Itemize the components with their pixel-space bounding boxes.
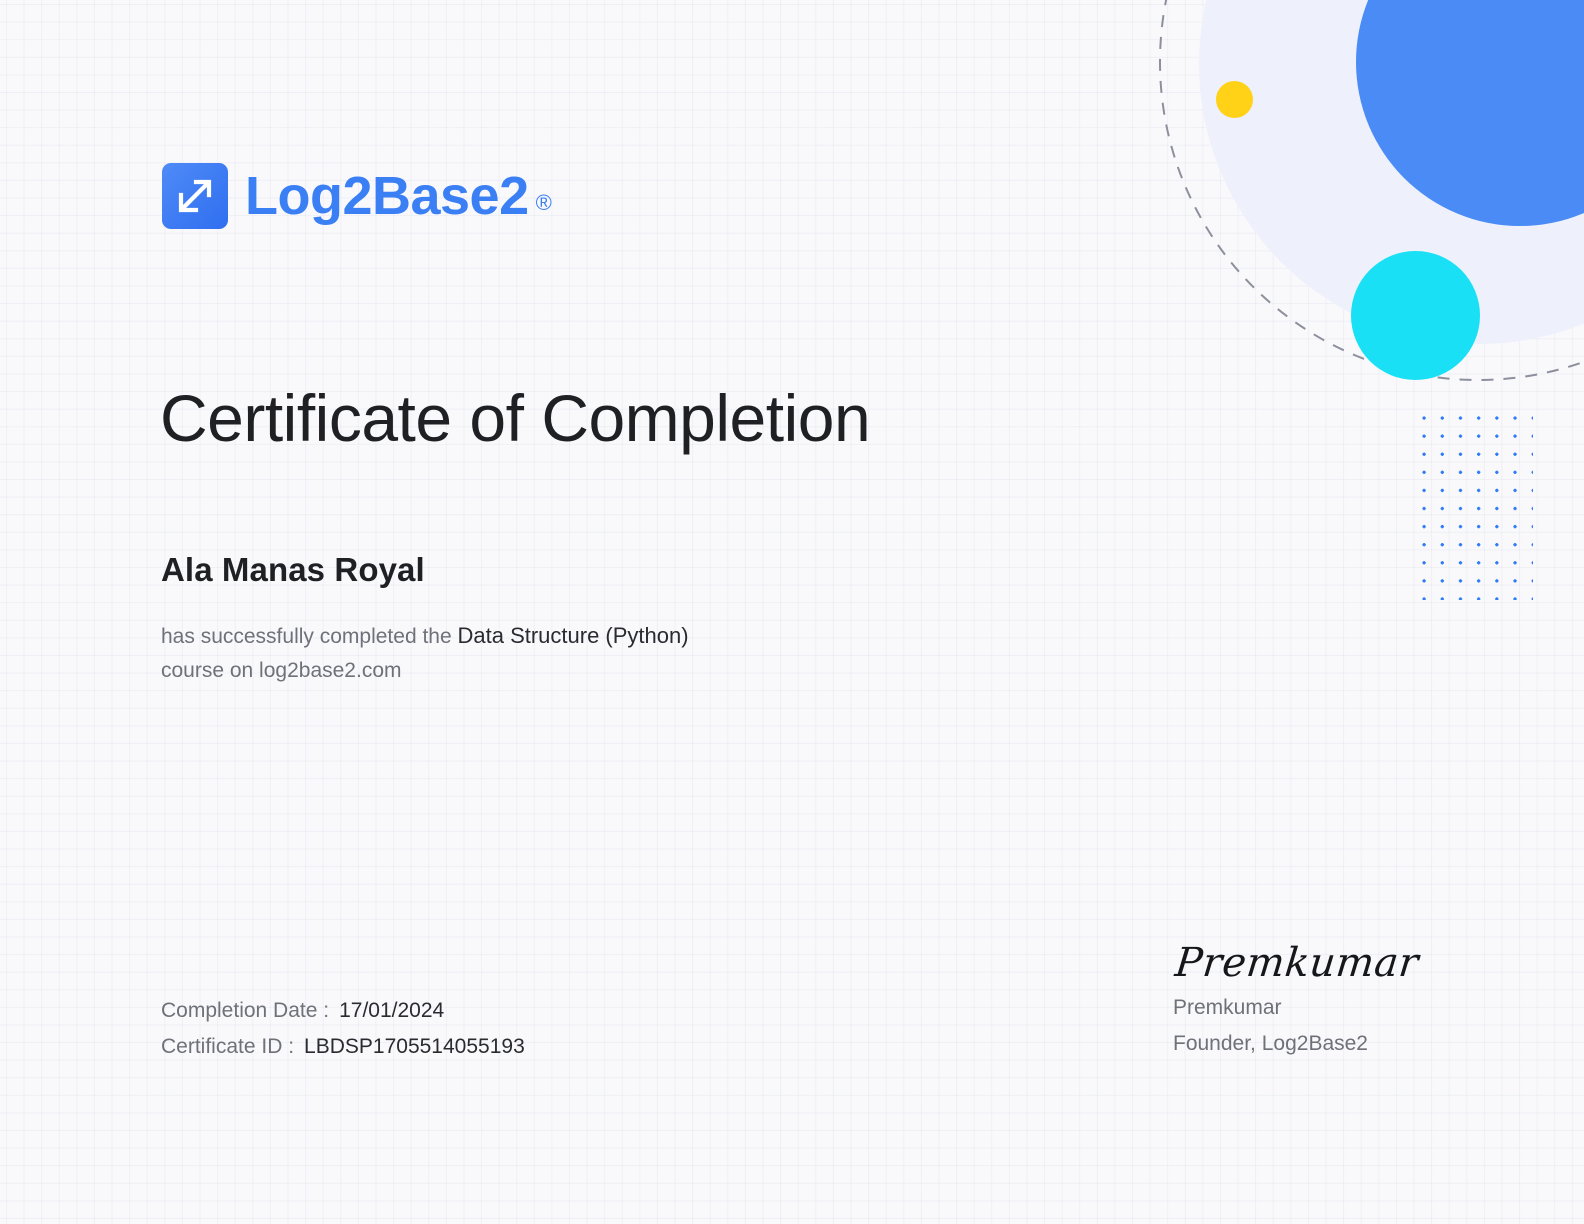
- signatory-role: Founder, Log2Base2: [1173, 1026, 1416, 1062]
- signatory-name: Premkumar: [1173, 990, 1416, 1026]
- completion-date-label: Completion Date :: [161, 999, 329, 1022]
- completion-date-value: 17/01/2024: [339, 999, 444, 1022]
- completion-prefix: has successfully completed the: [161, 625, 457, 648]
- completion-date-row: Completion Date :17/01/2024: [161, 993, 525, 1029]
- certificate-canvas: Log2Base2 ® Certificate of Completion Al…: [0, 0, 1584, 1224]
- signature-script: Premkumar: [1173, 940, 1421, 986]
- certificate-content: Log2Base2 ® Certificate of Completion Al…: [0, 0, 1584, 1224]
- completion-statement: has successfully completed the Data Stru…: [161, 619, 689, 688]
- certificate-id-value: LBDSP1705514055193: [304, 1035, 525, 1058]
- completion-suffix: course on log2base2.com: [161, 659, 402, 682]
- brand-wordmark: Log2Base2: [245, 169, 529, 223]
- page-title: Certificate of Completion: [160, 382, 870, 455]
- certificate-meta: Completion Date :17/01/2024 Certificate …: [161, 993, 525, 1065]
- recipient-name: Ala Manas Royal: [161, 551, 425, 589]
- registered-trademark-icon: ®: [536, 192, 552, 214]
- expand-arrow-icon: [162, 163, 228, 229]
- certificate-id-row: Certificate ID :LBDSP1705514055193: [161, 1029, 525, 1065]
- brand-logo[interactable]: Log2Base2 ®: [162, 163, 552, 229]
- signature-block: Premkumar Premkumar Founder, Log2Base2: [1173, 940, 1416, 1062]
- certificate-id-label: Certificate ID :: [161, 1035, 294, 1058]
- course-name: Data Structure (Python): [457, 623, 688, 648]
